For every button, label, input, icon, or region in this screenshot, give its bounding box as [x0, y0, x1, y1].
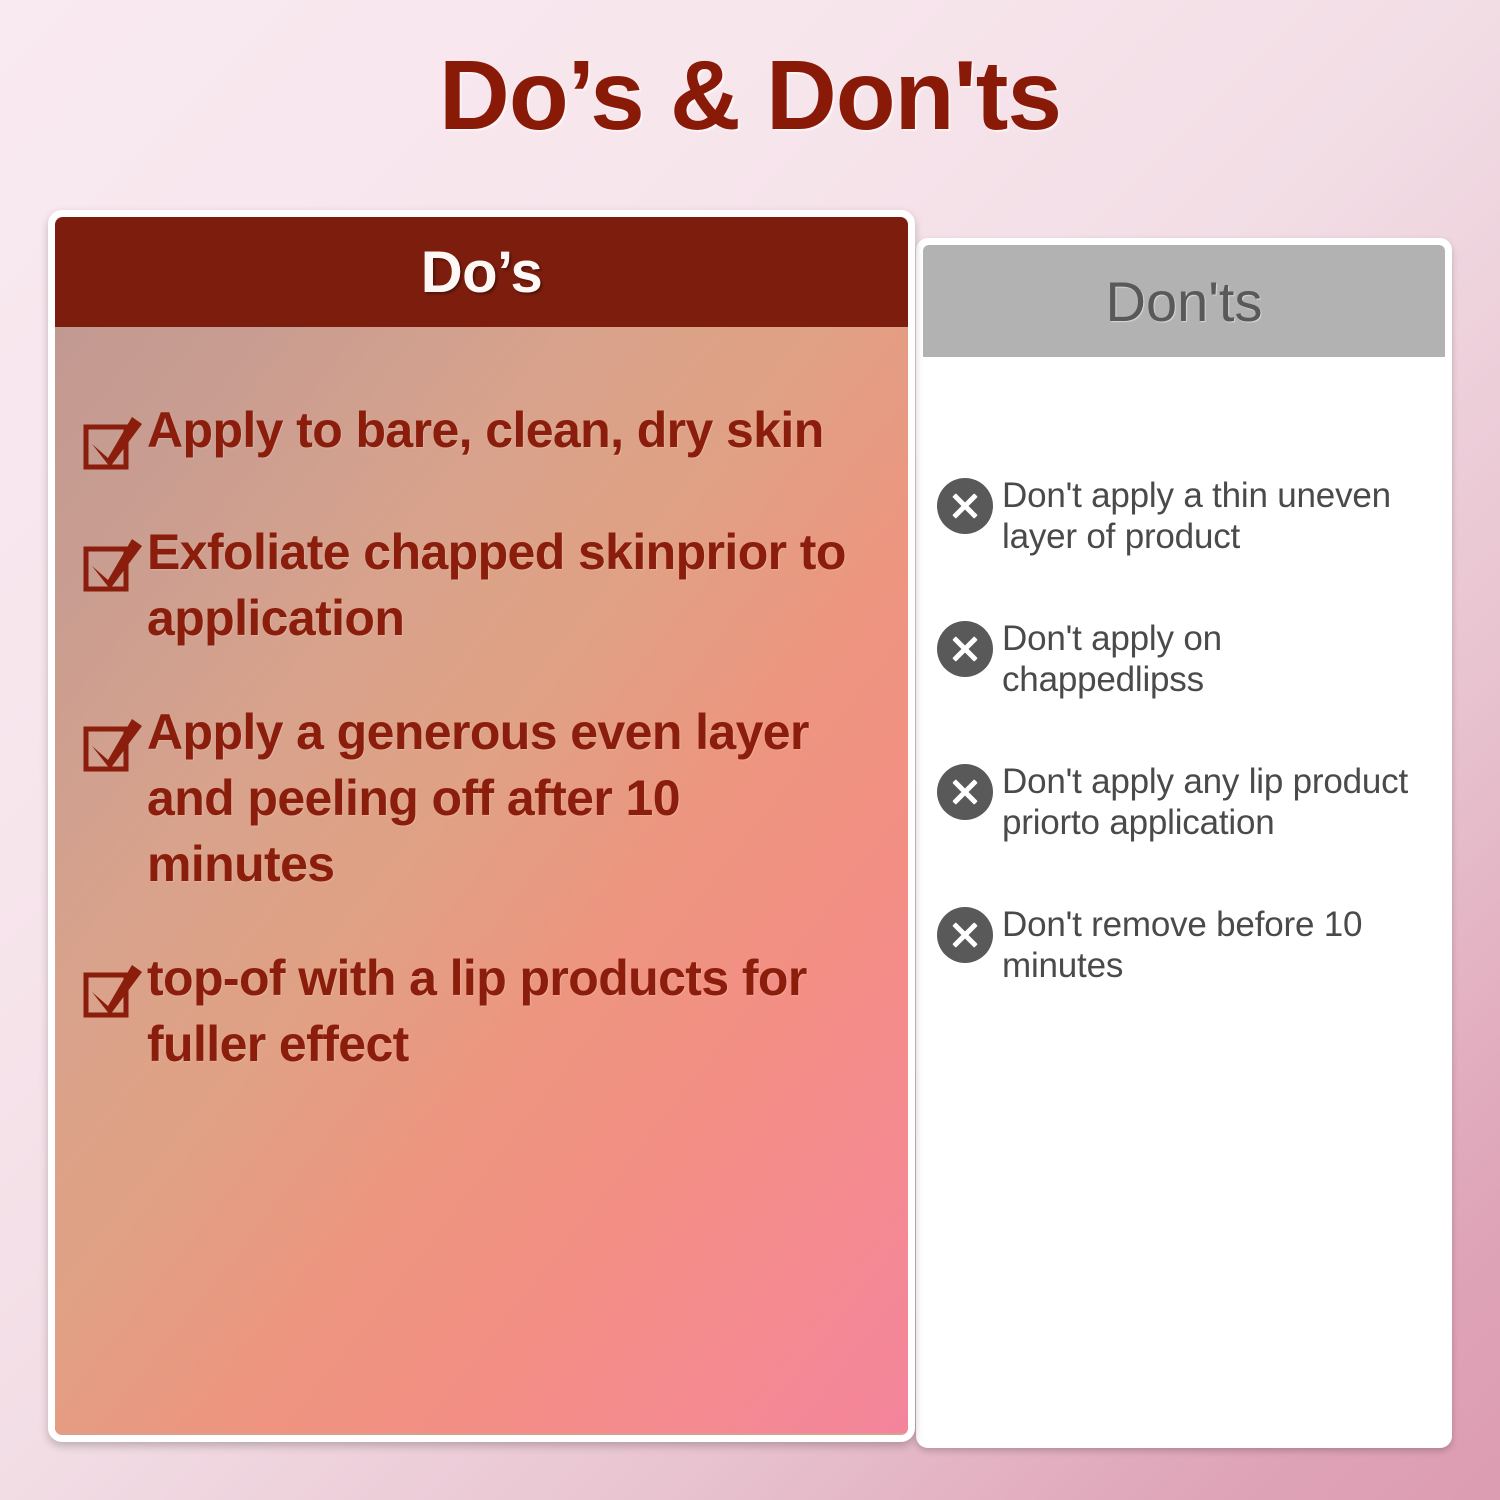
donts-header: Don'ts: [923, 245, 1445, 357]
page-title: Do’s & Don'ts: [0, 44, 1500, 147]
checkbox-check-icon: [83, 713, 145, 773]
list-item: Exfoliate chapped skinprior to applicati…: [83, 519, 878, 651]
donts-header-title: Don'ts: [1106, 269, 1263, 334]
circle-x-icon: [937, 478, 993, 534]
checkbox-check-icon: [83, 959, 145, 1019]
list-item-label: Exfoliate chapped skinprior to applicati…: [147, 519, 878, 651]
dos-header: Do’s: [55, 217, 908, 327]
list-item-label: Don't apply any lip product priorto appl…: [1002, 761, 1427, 844]
list-item-label: Don't remove before 10 minutes: [1002, 904, 1427, 987]
list-item-label: Don't apply a thin uneven layer of produ…: [1002, 475, 1427, 558]
circle-x-icon: [937, 621, 993, 677]
dos-panel: Do’s Apply to bare, clean, dry skin Exfo…: [48, 210, 915, 1442]
page-title-container: Do’s & Don'ts: [0, 44, 1500, 147]
list-item-label: Apply to bare, clean, dry skin: [147, 397, 824, 463]
list-item-label: Don't apply on chappedlipss: [1002, 618, 1427, 701]
list-item: Don't apply any lip product priorto appl…: [937, 761, 1427, 844]
list-item-label: Apply a generous even layer and peeling …: [147, 699, 878, 897]
list-item: Don't remove before 10 minutes: [937, 904, 1427, 987]
checkbox-check-icon: [83, 411, 145, 471]
list-item: Don't apply on chappedlipss: [937, 618, 1427, 701]
list-item: Don't apply a thin uneven layer of produ…: [937, 475, 1427, 558]
circle-x-icon: [937, 907, 993, 963]
dos-header-title: Do’s: [421, 239, 543, 306]
circle-x-icon: [937, 764, 993, 820]
donts-panel: Don'ts Don't apply a thin uneven layer o…: [916, 238, 1452, 1448]
donts-list: Don't apply a thin uneven layer of produ…: [923, 357, 1445, 987]
dos-list: Apply to bare, clean, dry skin Exfoliate…: [55, 327, 908, 1433]
list-item: Apply to bare, clean, dry skin: [83, 397, 878, 471]
checkbox-check-icon: [83, 533, 145, 593]
list-item: top-of with a lip products for fuller ef…: [83, 945, 878, 1077]
list-item-label: top-of with a lip products for fuller ef…: [147, 945, 878, 1077]
list-item: Apply a generous even layer and peeling …: [83, 699, 878, 897]
